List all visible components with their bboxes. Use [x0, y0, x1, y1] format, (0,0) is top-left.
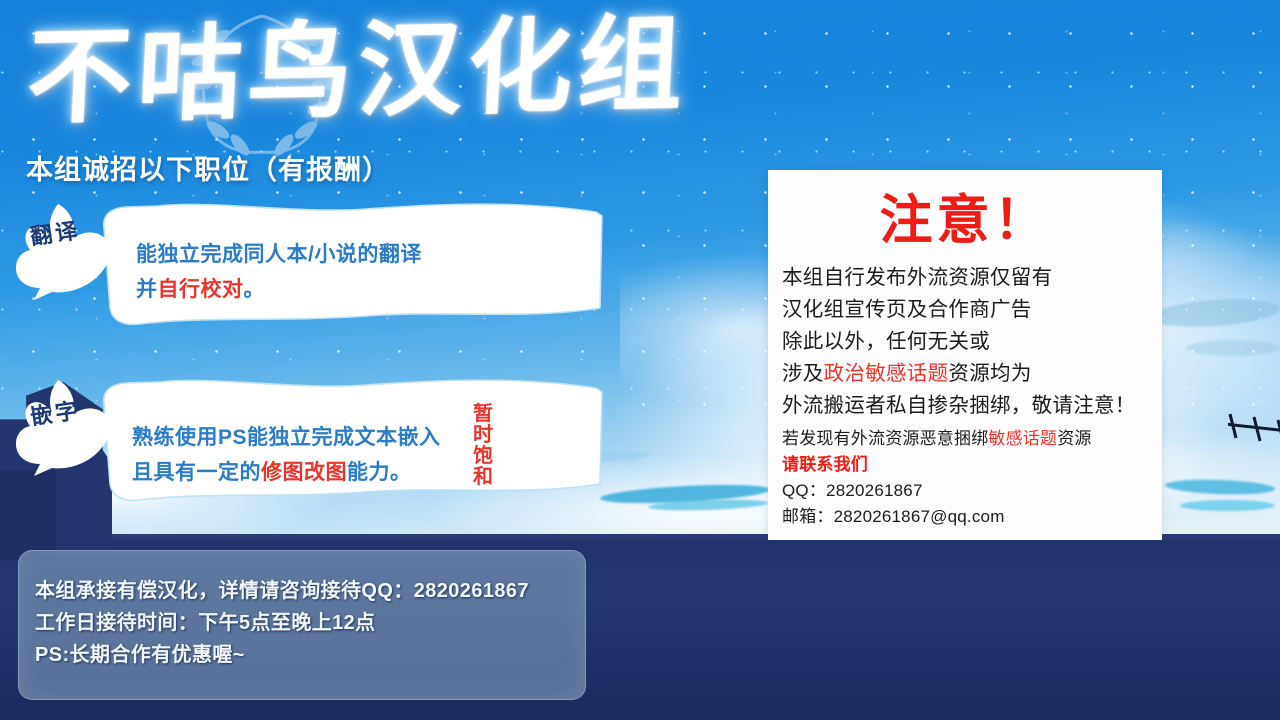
contact-line-commission: 本组承接有偿汉化，详情请咨询接待QQ：2820261867 [35, 575, 529, 607]
notice-footnote-line: 若发现有外流资源恶意捆绑敏感话题资源 [782, 426, 1162, 452]
notice-line: 本组自行发布外流资源仅留有 [782, 262, 1162, 294]
group-title: 不咕鸟汉化组 [24, 2, 761, 142]
sensitive-suffix: 资源均为 [948, 362, 1031, 385]
notice-panel: 注意！ 本组自行发布外流资源仅留有 汉化组宣传页及合作商广告 除此以外，任何无关… [768, 170, 1162, 540]
footnote-prefix: 若发现有外流资源恶意捆绑 [782, 429, 988, 448]
line2-prefix: 并 [136, 278, 158, 301]
role-description-typesetter: 熟练使用PS能独立完成文本嵌入 且具有一定的修图改图能力。 [132, 420, 441, 490]
line2-prefix: 且具有一定的 [132, 461, 261, 484]
notice-qq[interactable]: QQ：2820261867 [782, 478, 1162, 504]
sensitive-prefix: 涉及 [782, 362, 824, 385]
dove-icon [14, 196, 122, 308]
notice-line: 汉化组宣传页及合作商广告 [782, 294, 1162, 326]
notice-title: 注意！ [768, 190, 1162, 252]
contact-panel: 本组承接有偿汉化，详情请咨询接待QQ：2820261867 工作日接待时间：下午… [18, 550, 586, 700]
role-description-line2: 并自行校对。 [136, 272, 422, 307]
footnote-highlight: 敏感话题 [988, 429, 1057, 448]
footnote-suffix: 资源 [1057, 429, 1091, 448]
recruitment-subtitle: 本组诚招以下职位（有报酬） [26, 148, 390, 187]
line2-highlight: 自行校对 [158, 278, 244, 301]
status-stamp-saturated: 暂时饱和 [470, 404, 496, 488]
sensitive-highlight: 政治敏感话题 [824, 362, 949, 385]
role-description-translator: 能独立完成同人本/小说的翻译 并自行校对。 [136, 237, 422, 307]
line2-highlight: 修图改图 [261, 461, 347, 484]
contact-line-ps: PS:长期合作有优惠喔~ [35, 639, 529, 671]
dove-icon [14, 372, 122, 484]
line2-suffix: 能力。 [347, 461, 412, 484]
recruitment-banner-page: 不咕鸟汉化组 本组诚招以下职位（有报酬） 翻译 能独立完成同人本/小说的翻译 并… [0, 0, 1280, 720]
notice-line: 外流搬运者私自掺杂捆绑，敬请注意！ [782, 390, 1162, 422]
notice-line: 除此以外，任何无关或 [782, 326, 1162, 358]
role-description-line1: 能独立完成同人本/小说的翻译 [136, 237, 422, 272]
notice-footnote: 若发现有外流资源恶意捆绑敏感话题资源 请联系我们 QQ：2820261867 邮… [782, 426, 1162, 530]
line2-suffix: 。 [244, 278, 266, 301]
contact-line-hours: 工作日接待时间：下午5点至晚上12点 [35, 607, 529, 639]
tv-antenna-icon [1228, 390, 1280, 560]
role-description-line1: 熟练使用PS能独立完成文本嵌入 [132, 420, 441, 455]
notice-line-sensitive: 涉及政治敏感话题资源均为 [782, 358, 1162, 390]
notice-body: 本组自行发布外流资源仅留有 汉化组宣传页及合作商广告 除此以外，任何无关或 涉及… [782, 262, 1162, 422]
contact-panel-body: 本组承接有偿汉化，详情请咨询接待QQ：2820261867 工作日接待时间：下午… [35, 575, 529, 671]
notice-email[interactable]: 邮箱：2820261867@qq.com [782, 504, 1162, 530]
role-description-line2: 且具有一定的修图改图能力。 [132, 455, 441, 490]
contact-us-link[interactable]: 请联系我们 [782, 452, 1162, 478]
